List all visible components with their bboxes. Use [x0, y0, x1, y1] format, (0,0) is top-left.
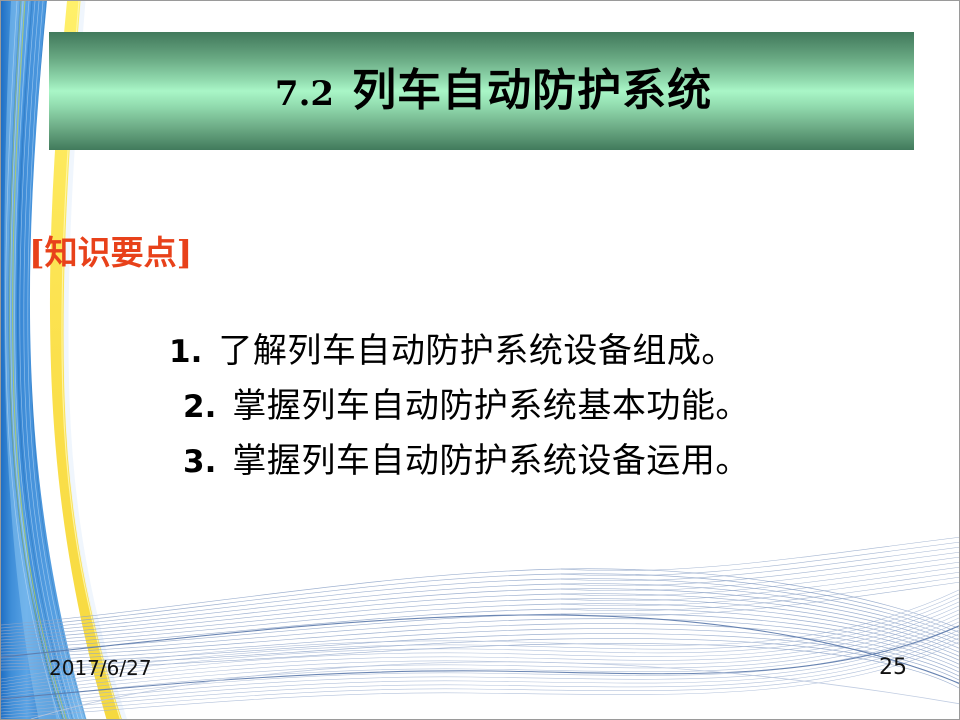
- footer-date: 2017/6/27: [49, 656, 152, 680]
- section-heading: [知识要点]: [29, 235, 192, 271]
- list-item-number: 2: [183, 392, 205, 423]
- page-title: 7.2列车自动防护系统: [251, 69, 712, 113]
- list-item-number: 1: [169, 337, 191, 368]
- list-item: 3.掌握列车自动防护系统设备运用。: [183, 444, 869, 478]
- footer-page-number: 25: [879, 655, 907, 680]
- list-item-text: 掌握列车自动防护系统设备运用。: [232, 444, 750, 478]
- title-banner: 7.2列车自动防护系统: [49, 32, 914, 150]
- bottom-wave-decoration: [1, 529, 960, 719]
- list-item-separator: .: [205, 447, 233, 478]
- list-item-separator: .: [191, 337, 219, 368]
- list-item-text: 掌握列车自动防护系统基本功能。: [232, 389, 750, 423]
- title-number: 7.2: [275, 74, 334, 114]
- list-item-text: 了解列车自动防护系统设备组成。: [218, 334, 736, 368]
- list-item-number: 3: [183, 447, 205, 478]
- list-item-separator: .: [205, 392, 233, 423]
- list-item: 1.了解列车自动防护系统设备组成。: [169, 334, 869, 368]
- title-label: 列车自动防护系统: [352, 65, 712, 116]
- list-item: 2.掌握列车自动防护系统基本功能。: [183, 389, 869, 423]
- objectives-list: 1.了解列车自动防护系统设备组成。 2.掌握列车自动防护系统基本功能。 3.掌握…: [169, 334, 869, 499]
- slide-canvas: 7.2列车自动防护系统 [知识要点] 1.了解列车自动防护系统设备组成。 2.掌…: [0, 0, 960, 720]
